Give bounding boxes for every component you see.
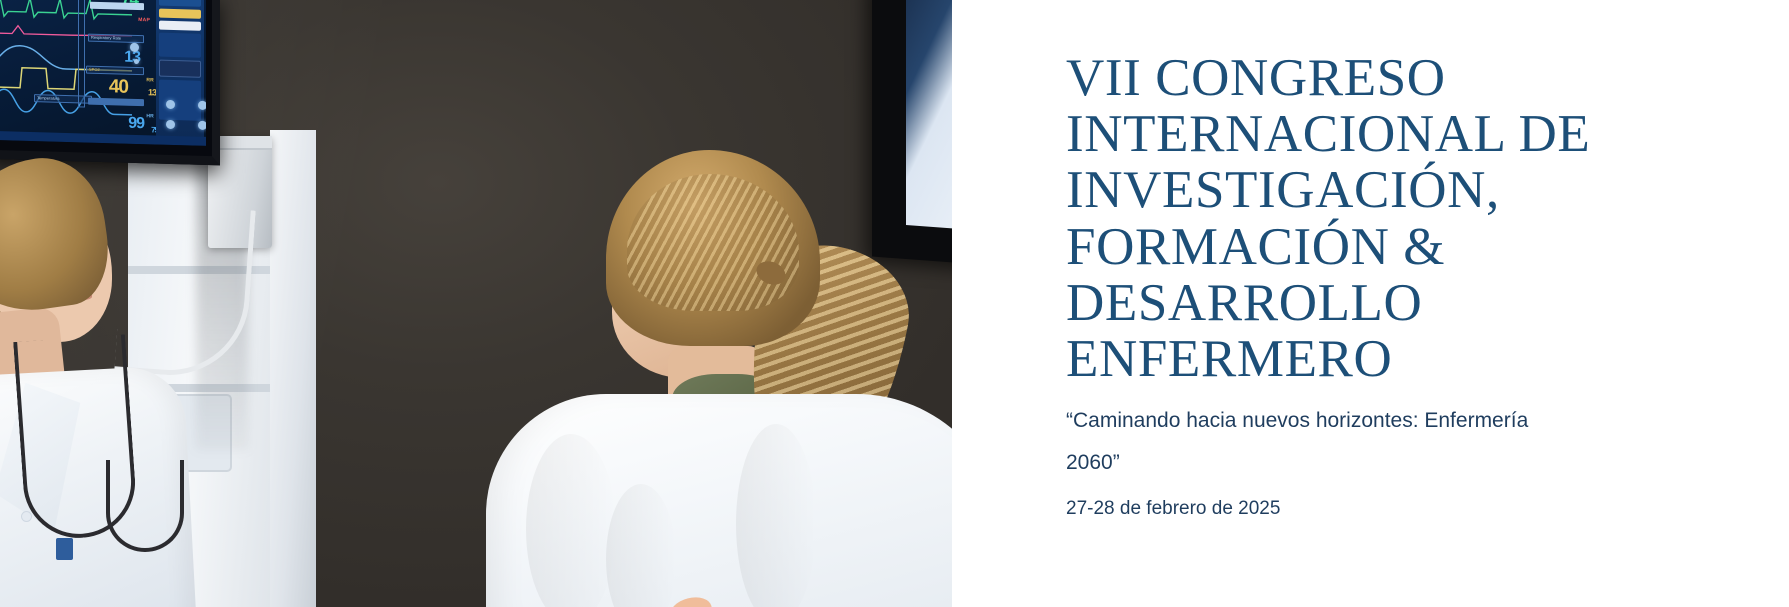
coat-fold xyxy=(606,484,676,607)
soft-key[interactable] xyxy=(166,120,175,129)
nurse-foreground-left xyxy=(0,160,246,607)
side-strip xyxy=(78,0,85,108)
monitor-button-panel[interactable] xyxy=(156,0,204,145)
indicator-dot xyxy=(130,43,139,52)
congress-motto: “Caminando hacia nuevos horizontes: Enfe… xyxy=(1066,400,1586,484)
congress-hero-banner: 74 13 40 13 99 75 MAP RR HR Respiratory … xyxy=(0,0,1789,607)
congress-dates: 27-28 de febrero de 2025 xyxy=(1066,498,1280,520)
menu-button[interactable] xyxy=(159,0,201,7)
nibp-secondary-value: 13 xyxy=(148,87,156,97)
field-label-bar: Respiratory Rate xyxy=(88,34,144,44)
monitor-screen: 74 13 40 13 99 75 MAP RR HR Respiratory … xyxy=(0,0,206,146)
print-button[interactable] xyxy=(159,33,201,58)
indicator-dot xyxy=(134,59,139,64)
coat-logo-patch xyxy=(56,538,73,560)
respiratory-rate-label: Respiratory Rate xyxy=(89,35,143,42)
nav-knob-area[interactable] xyxy=(159,80,201,121)
white-column xyxy=(270,130,316,607)
soft-key[interactable] xyxy=(198,101,206,110)
nurse-right-white-coat xyxy=(486,394,952,607)
coat-fold xyxy=(526,434,616,607)
hero-text-panel: VII CONGRESO INTERNACIONAL DE INVESTIGAC… xyxy=(952,0,1789,607)
spo2-value: 99 xyxy=(128,115,144,133)
nurse-right-hair xyxy=(606,150,820,346)
spo2-label: SPO2 xyxy=(87,67,143,74)
patient-vitals-monitor: 74 13 40 13 99 75 MAP RR HR Respiratory … xyxy=(0,0,220,165)
nurse-background-right xyxy=(520,150,952,607)
freeze-button[interactable] xyxy=(159,60,201,78)
field-label-bar: SPO2 xyxy=(86,66,144,76)
map-label: MAP xyxy=(138,17,150,23)
alarm-button[interactable] xyxy=(159,9,201,19)
nibp-systolic-value: 40 xyxy=(109,76,128,99)
stethoscope-tube xyxy=(106,460,184,552)
soft-key[interactable] xyxy=(198,121,206,130)
hr-label: HR xyxy=(146,113,154,119)
nibp-button[interactable] xyxy=(159,21,201,31)
rr-label: RR xyxy=(146,77,154,83)
coat-button xyxy=(22,512,31,521)
value-bar xyxy=(90,2,144,11)
hero-photo: 74 13 40 13 99 75 MAP RR HR Respiratory … xyxy=(0,0,952,607)
page-title: VII CONGRESO INTERNACIONAL DE INVESTIGAC… xyxy=(1066,50,1686,387)
soft-key[interactable] xyxy=(166,100,175,109)
coat-fold xyxy=(736,424,816,607)
